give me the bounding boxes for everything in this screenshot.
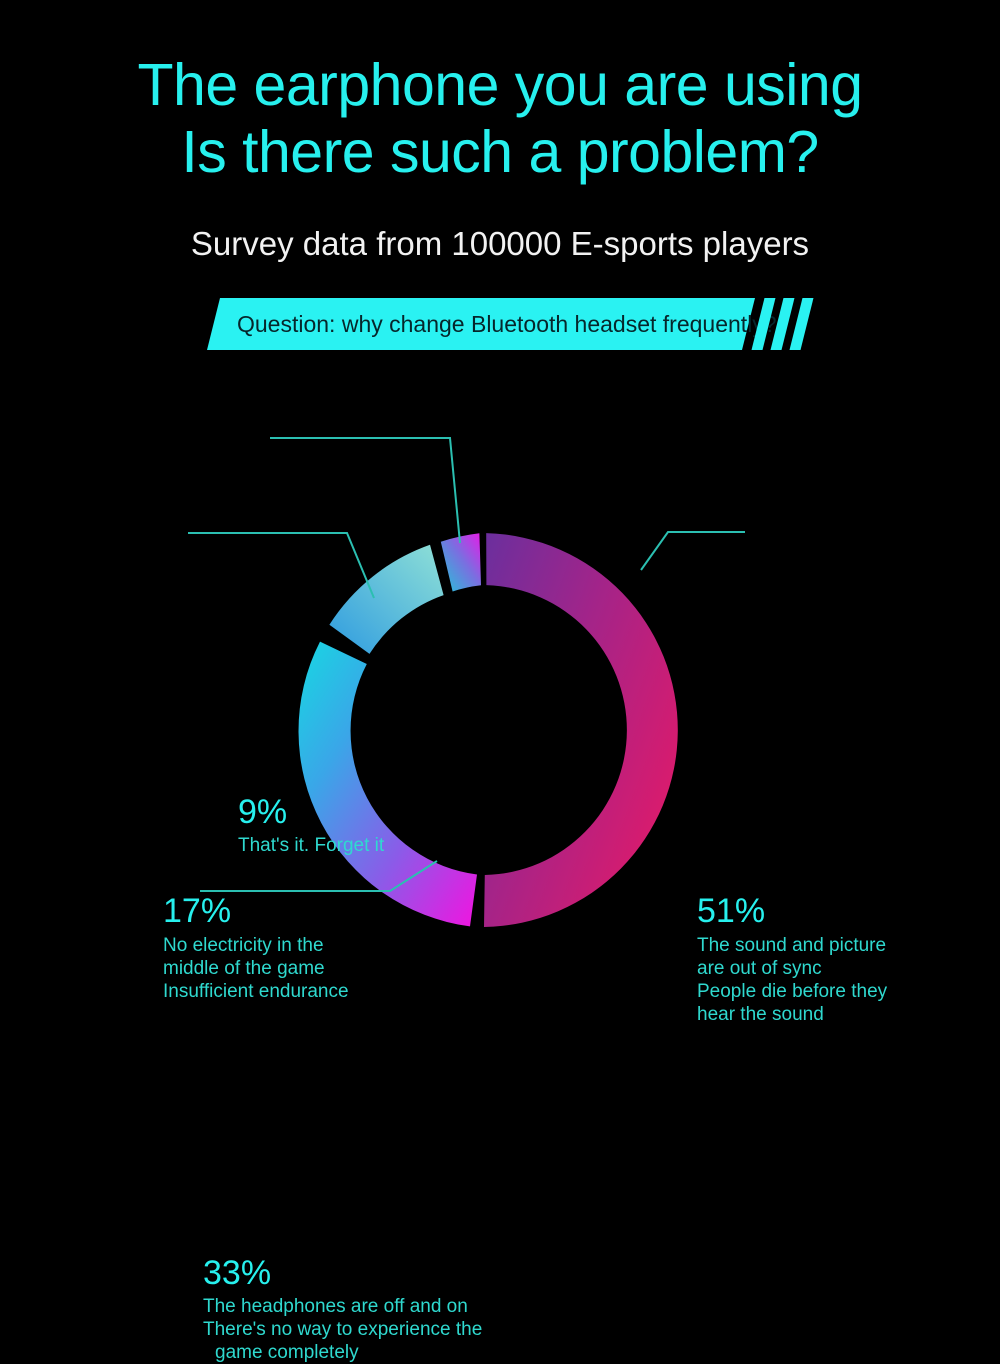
callout-33-line-2: There's no way to experience the — [203, 1318, 482, 1341]
callout-51-line-4: hear the sound — [697, 1003, 887, 1026]
question-banner: Question: why change Bluetooth headset f… — [207, 298, 807, 350]
callout-33: 33% The headphones are off and on There'… — [203, 1254, 482, 1364]
donut-chart: 51% The sound and picture are out of syn… — [0, 380, 1000, 1000]
callout-51-line-1: The sound and picture — [697, 934, 887, 957]
callout-17-line-2: middle of the game — [163, 957, 349, 980]
infographic-page: The earphone you are using Is there such… — [0, 0, 1000, 1000]
donut-slice-33[interactable] — [299, 642, 477, 927]
callout-51-description: The sound and picture are out of sync Pe… — [697, 934, 887, 1026]
callout-51: 51% The sound and picture are out of syn… — [697, 892, 887, 1026]
callout-33-line-3: game completely — [203, 1341, 482, 1364]
donut-slice-17[interactable] — [329, 545, 443, 654]
donut-slice-51[interactable] — [484, 533, 678, 927]
leader-line-9 — [270, 438, 460, 543]
headline-line-1: The earphone you are using — [0, 52, 1000, 119]
callout-17-line-1: No electricity in the — [163, 934, 349, 957]
callout-33-line-1: The headphones are off and on — [203, 1295, 482, 1318]
callout-33-percent: 33% — [203, 1254, 482, 1292]
callout-9: 9% That's it. Forget it — [238, 793, 384, 857]
question-banner-text: Question: why change Bluetooth headset f… — [237, 298, 777, 350]
callout-9-description: That's it. Forget it — [238, 834, 384, 857]
leader-line-51 — [641, 532, 745, 570]
callout-9-line-1: That's it. Forget it — [238, 834, 384, 857]
callout-9-percent: 9% — [238, 793, 384, 831]
callout-17-percent: 17% — [163, 892, 349, 930]
leader-line-17 — [188, 533, 374, 598]
callout-51-line-2: are out of sync — [697, 957, 887, 980]
callout-33-description: The headphones are off and on There's no… — [203, 1295, 482, 1364]
callout-17: 17% No electricity in the middle of the … — [163, 892, 349, 1003]
callout-51-percent: 51% — [697, 892, 887, 930]
page-title: The earphone you are using Is there such… — [0, 52, 1000, 186]
subtitle: Survey data from 100000 E-sports players — [0, 222, 1000, 266]
headline-line-2: Is there such a problem? — [0, 119, 1000, 186]
banner-stripe-3-icon — [790, 298, 814, 350]
callout-17-description: No electricity in the middle of the game… — [163, 934, 349, 1003]
